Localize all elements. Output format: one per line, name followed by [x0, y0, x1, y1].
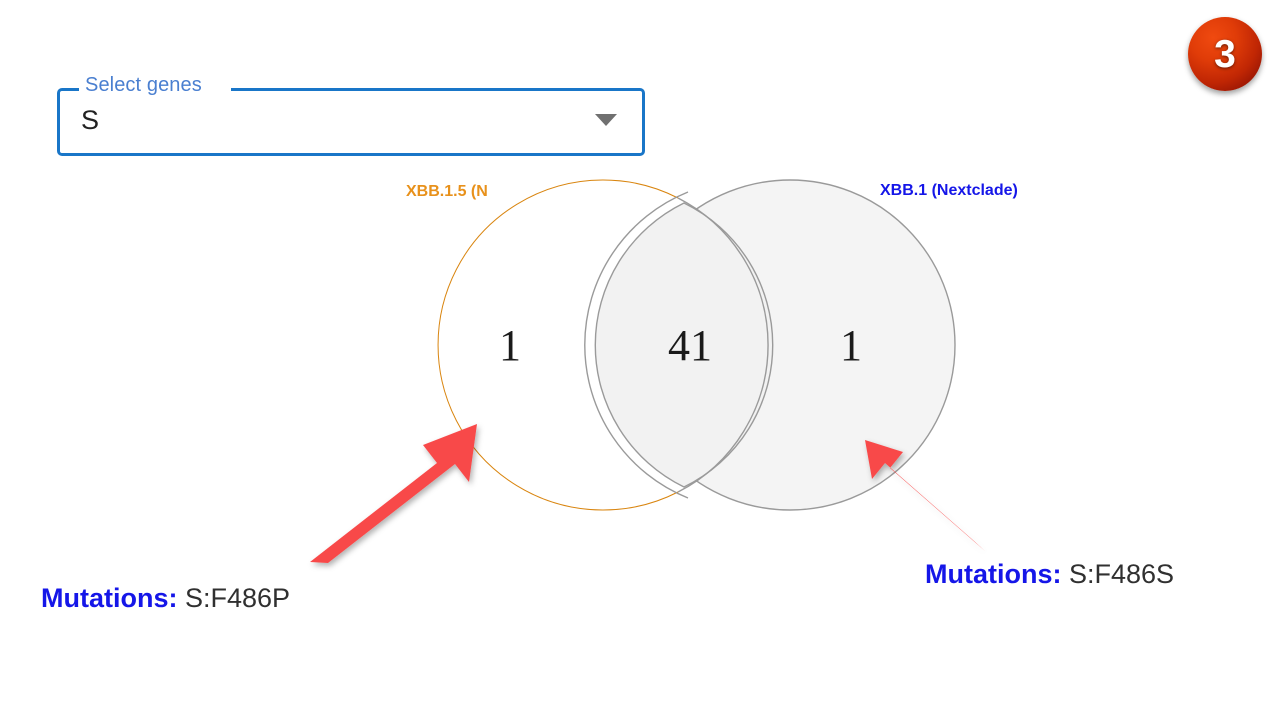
select-genes-field[interactable]: Select genes S — [57, 88, 645, 156]
chevron-down-icon[interactable] — [595, 114, 617, 126]
venn-circle-left — [438, 180, 678, 510]
annotation-left: Mutations: S:F486P — [41, 583, 290, 614]
annotation-left-key: Mutations: — [41, 583, 177, 613]
annotation-right-value: S:F486S — [1069, 559, 1174, 589]
venn-intersection-region — [595, 203, 772, 487]
venn-count-left-only: 1 — [499, 321, 521, 370]
annotation-right-key: Mutations: — [925, 559, 1061, 589]
venn-count-intersection: 41 — [668, 321, 712, 370]
venn-circle-right — [625, 180, 955, 510]
select-genes-label: Select genes — [85, 74, 202, 97]
annotation-right: Mutations: S:F486S — [925, 559, 1174, 590]
annotation-left-value: S:F486P — [185, 583, 290, 613]
select-outline — [57, 88, 645, 156]
step-badge: 3 — [1188, 17, 1262, 91]
annotation-arrow-right — [865, 440, 985, 551]
venn-label-right: XBB.1 (Nextclade) — [880, 182, 1018, 199]
select-genes-value[interactable]: S — [81, 105, 99, 136]
annotation-arrow-left — [310, 424, 477, 563]
venn-lens-right-arc — [678, 198, 768, 492]
venn-lens-left-arc — [585, 192, 688, 498]
venn-label-left: XBB.1.5 (N — [406, 183, 488, 200]
step-badge-number: 3 — [1214, 35, 1236, 74]
venn-count-right-only: 1 — [840, 321, 862, 370]
